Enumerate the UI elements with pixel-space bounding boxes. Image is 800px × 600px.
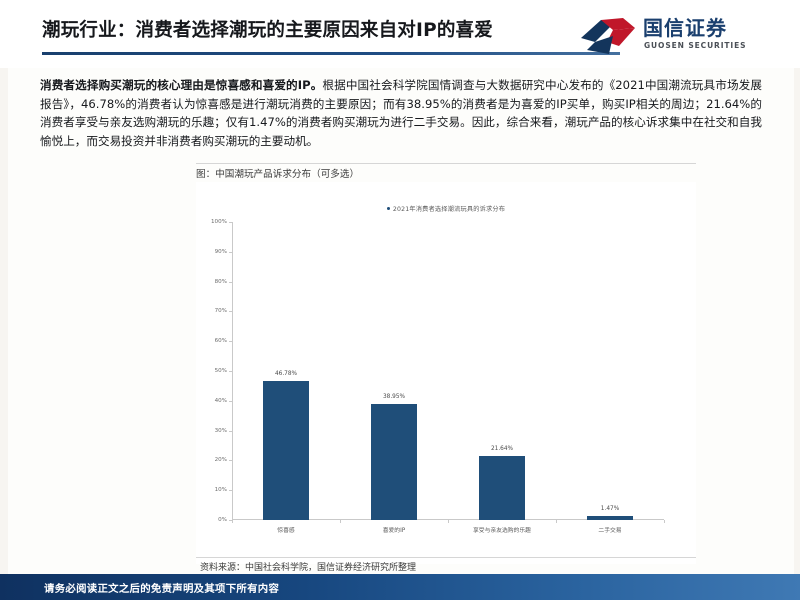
x-axis-tick-label: 享受与亲友选购的乐趣 bbox=[473, 525, 531, 534]
figure-caption-rule bbox=[196, 163, 696, 164]
legend-marker-icon bbox=[387, 207, 390, 210]
y-axis-tick-label: 90% bbox=[215, 249, 227, 255]
figure-caption: 图：中国潮玩产品诉求分布（可多选） bbox=[196, 166, 359, 180]
x-axis-tick-label: 喜爱的IP bbox=[383, 525, 406, 534]
title-underline-rule bbox=[42, 52, 620, 55]
chart-bar bbox=[479, 456, 525, 520]
guosen-logo-icon bbox=[579, 16, 637, 56]
chart-bar bbox=[263, 381, 309, 520]
slide-header: 潮玩行业：消费者选择潮玩的主要原因来自对IP的喜爱 国信证券 GUOSEN SE… bbox=[0, 0, 800, 68]
chart-bar-value-label: 38.95% bbox=[383, 394, 405, 400]
y-axis-tick-label: 40% bbox=[215, 398, 227, 404]
logo-text-cn: 国信证券 bbox=[643, 16, 727, 40]
y-axis-tick-label: 10% bbox=[215, 487, 227, 493]
chart-bar bbox=[371, 404, 417, 520]
y-axis-tick-label: 20% bbox=[215, 457, 227, 463]
y-axis-tick-label: 30% bbox=[215, 428, 227, 434]
figure-source-note: 资料来源：中国社会科学院，国信证券经济研究所整理 bbox=[200, 560, 416, 573]
x-axis-tick-mark bbox=[448, 520, 449, 523]
chart-bar-group: 21.64%享受与亲友选购的乐趣 bbox=[448, 222, 556, 520]
chart-bar-group: 1.47%二手交易 bbox=[556, 222, 664, 520]
footer-disclaimer: 请务必阅读正文之后的免责声明及其项下所有内容 bbox=[44, 580, 279, 595]
body-paragraph: 消费者选择购买潮玩的核心理由是惊喜感和喜爱的IP。根据中国社会科学院国情调查与大… bbox=[40, 76, 762, 150]
body-text-block: 消费者选择购买潮玩的核心理由是惊喜感和喜爱的IP。根据中国社会科学院国情调查与大… bbox=[40, 76, 762, 150]
chart-bar-value-label: 46.78% bbox=[275, 371, 297, 377]
chart-bar-value-label: 1.47% bbox=[601, 506, 619, 512]
page-title-wrap: 潮玩行业：消费者选择潮玩的主要原因来自对IP的喜爱 bbox=[42, 18, 602, 44]
chart-plot-area: 0%10%20%30%40%50%60%70%80%90%100%46.78%惊… bbox=[232, 222, 664, 520]
page-right-edge bbox=[794, 0, 800, 600]
y-axis-tick-label: 80% bbox=[215, 279, 227, 285]
brand-logo: 国信证券 GUOSEN SECURITIES bbox=[579, 14, 774, 58]
y-axis-tick-label: 0% bbox=[218, 517, 227, 523]
x-axis-tick-label: 二手交易 bbox=[598, 525, 621, 534]
y-axis-tick-label: 60% bbox=[215, 338, 227, 344]
chart-bar-group: 46.78%惊喜感 bbox=[232, 222, 340, 520]
slide-page: 潮玩行业：消费者选择潮玩的主要原因来自对IP的喜爱 国信证券 GUOSEN SE… bbox=[0, 0, 800, 600]
chart-bar bbox=[587, 516, 633, 520]
chart-bar-value-label: 21.64% bbox=[491, 446, 513, 452]
x-axis-tick-mark bbox=[232, 520, 233, 523]
slide-footer: 请务必阅读正文之后的免责声明及其项下所有内容 bbox=[0, 574, 800, 600]
logo-text-en: GUOSEN SECURITIES bbox=[644, 41, 746, 50]
x-axis-tick-label: 惊喜感 bbox=[277, 525, 294, 534]
chart-title-text: 2021年消费者选择潮流玩具的诉求分布 bbox=[393, 206, 505, 213]
page-left-edge bbox=[0, 0, 8, 600]
page-title: 潮玩行业：消费者选择潮玩的主要原因来自对IP的喜爱 bbox=[42, 18, 602, 44]
chart-legend-title: 2021年消费者选择潮流玩具的诉求分布 bbox=[196, 204, 696, 213]
chart-bar-group: 38.95%喜爱的IP bbox=[340, 222, 448, 520]
body-paragraph-lead: 消费者选择购买潮玩的核心理由是惊喜感和喜爱的IP。 bbox=[40, 78, 322, 92]
chart-panel: 2021年消费者选择潮流玩具的诉求分布 0%10%20%30%40%50%60%… bbox=[196, 182, 696, 564]
y-axis-tick-label: 50% bbox=[215, 368, 227, 374]
source-rule bbox=[196, 557, 696, 558]
x-axis-tick-mark bbox=[664, 520, 665, 523]
y-axis-tick-label: 100% bbox=[211, 219, 227, 225]
x-axis-tick-mark bbox=[340, 520, 341, 523]
y-axis-tick-label: 70% bbox=[215, 308, 227, 314]
x-axis-tick-mark bbox=[556, 520, 557, 523]
